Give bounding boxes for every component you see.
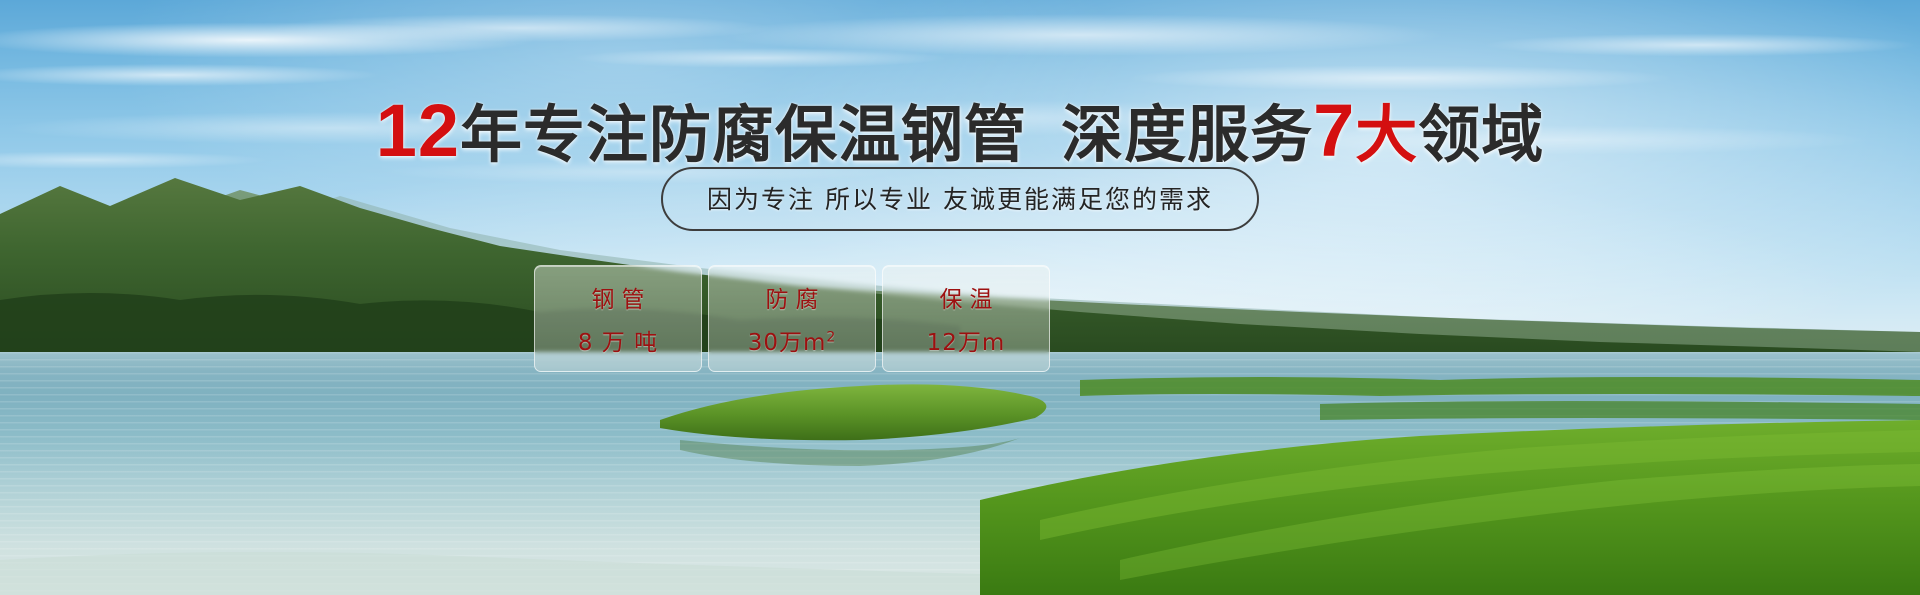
subtitle-container: 因为专注 所以专业 友诚更能满足您的需求 [0, 167, 1920, 231]
hero-banner: 12年专注防腐保温钢管深度服务7大领域 因为专注 所以专业 友诚更能满足您的需求… [0, 0, 1920, 595]
stat-card-value-text: 30万m [748, 330, 827, 356]
headline-part-1: 年专注防腐保温钢管 [460, 98, 1027, 171]
headline-years-number: 12 [376, 89, 460, 172]
stat-card-label: 钢管 [585, 280, 652, 314]
stat-card-label: 保温 [933, 280, 1000, 314]
stat-card-value: 8 万 吨 [578, 323, 658, 357]
headline-fields-number: 7 [1313, 89, 1355, 172]
stat-card-value-superscript: 2 [826, 329, 836, 345]
stat-card-label: 防腐 [759, 280, 826, 314]
subtitle-pill: 因为专注 所以专业 友诚更能满足您的需求 [661, 167, 1259, 231]
headline-part-3: 大 [1355, 98, 1418, 171]
banner-headline: 12年专注防腐保温钢管深度服务7大领域 [0, 84, 1920, 174]
headline-part-4: 领域 [1418, 98, 1544, 171]
stat-card-steel-pipe[interactable]: 钢管 8 万 吨 [534, 265, 702, 372]
stat-card-anticorrosion[interactable]: 防腐 30万m2 [708, 265, 876, 372]
stat-card-insulation[interactable]: 保温 12万m [882, 265, 1050, 372]
stat-card-group: 钢管 8 万 吨 防腐 30万m2 保温 12万m [534, 265, 1050, 372]
headline-part-2: 深度服务 [1061, 98, 1313, 171]
stat-card-value: 12万m [927, 323, 1006, 357]
stat-card-value: 30万m2 [748, 323, 837, 357]
